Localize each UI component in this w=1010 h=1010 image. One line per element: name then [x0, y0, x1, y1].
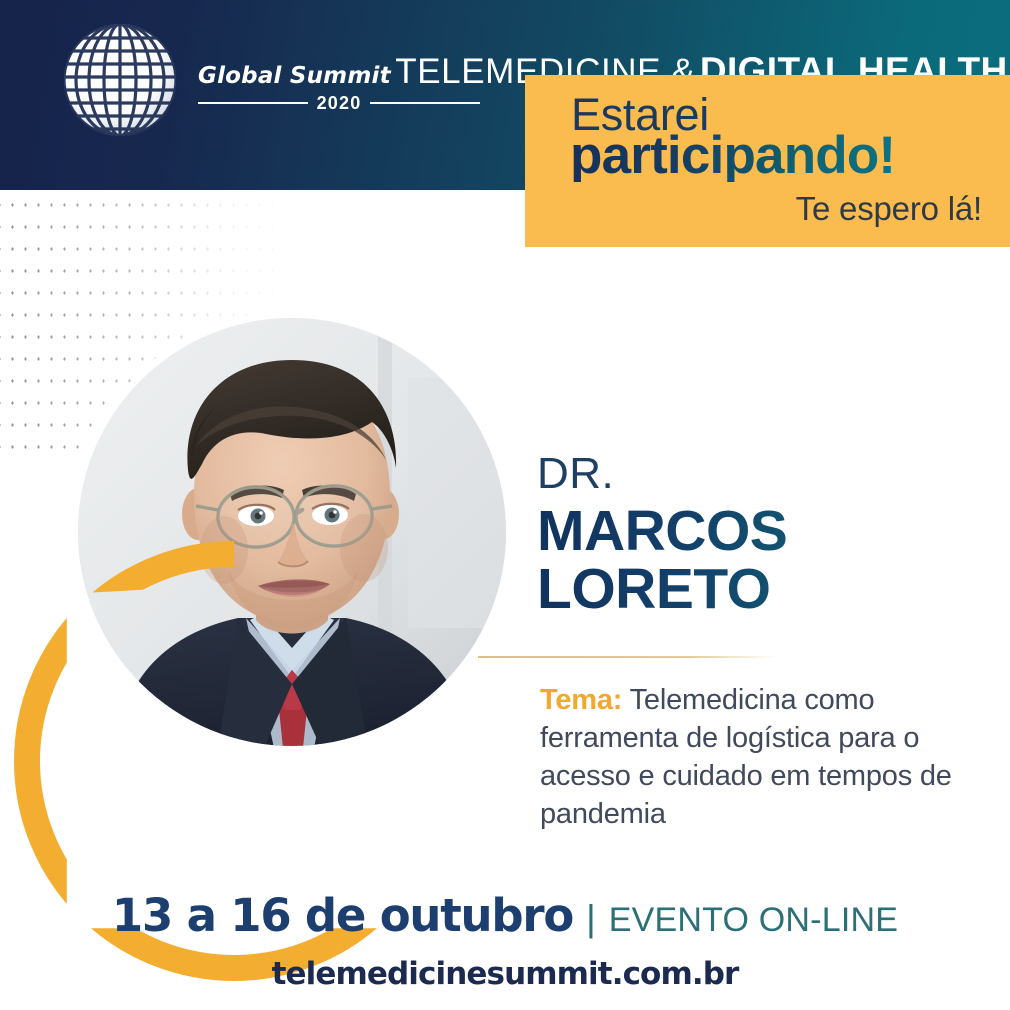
speaker-name: MARCOS LORETO	[537, 502, 997, 618]
banner-line-te-espero: Te espero lá!	[796, 192, 982, 225]
logo-rule-right	[370, 102, 480, 104]
theme-block: Tema: Telemedicina como ferramenta de lo…	[540, 682, 965, 834]
footer: 13 a 16 de outubro | EVENTO ON-LINE tele…	[0, 893, 1010, 990]
logo-year: 2020	[317, 94, 362, 112]
theme-spacer	[622, 684, 629, 716]
participation-banner: Estarei participando! Te espero lá!	[525, 75, 1010, 247]
speaker-name-block: DR. MARCOS LORETO	[537, 452, 997, 618]
name-divider	[478, 656, 778, 658]
speaker-honorific: DR.	[537, 452, 997, 496]
event-mode: EVENTO ON-LINE	[609, 903, 898, 937]
speaker-first-name: MARCOS	[537, 502, 997, 560]
logo-year-row: 2020	[198, 94, 480, 112]
globe-grid-icon	[58, 18, 182, 142]
footer-separator: |	[586, 900, 596, 937]
speaker-last-name: LORETO	[537, 560, 997, 618]
promo-poster: Global Summit TELEMEDICINE & DIGITAL HEA…	[0, 0, 1010, 1010]
event-website[interactable]: telemedicinesummit.com.br	[0, 959, 1010, 990]
speaker-portrait	[78, 318, 506, 746]
logo-rule-left	[198, 102, 308, 104]
banner-line-participando: participando!	[570, 129, 895, 182]
event-dates: 13 a 16 de outubro	[112, 893, 573, 938]
theme-label: Tema:	[540, 684, 622, 716]
logo-tagline: Global Summit	[198, 63, 391, 89]
footer-date-row: 13 a 16 de outubro | EVENTO ON-LINE	[0, 893, 1010, 938]
